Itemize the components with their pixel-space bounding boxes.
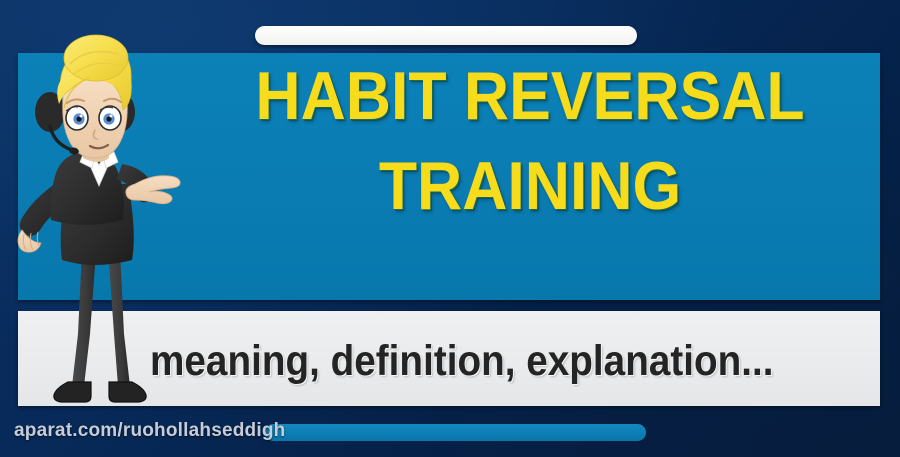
site-watermark: aparat.com/ruohollahseddigh bbox=[14, 420, 285, 442]
subtitle-panel bbox=[18, 311, 880, 406]
headline-panel bbox=[18, 53, 880, 300]
video-thumbnail-canvas: HABIT REVERSAL TRAINING meaning, definit… bbox=[0, 0, 900, 457]
top-pill-banner bbox=[255, 26, 637, 45]
video-progress-bar[interactable] bbox=[265, 424, 646, 441]
